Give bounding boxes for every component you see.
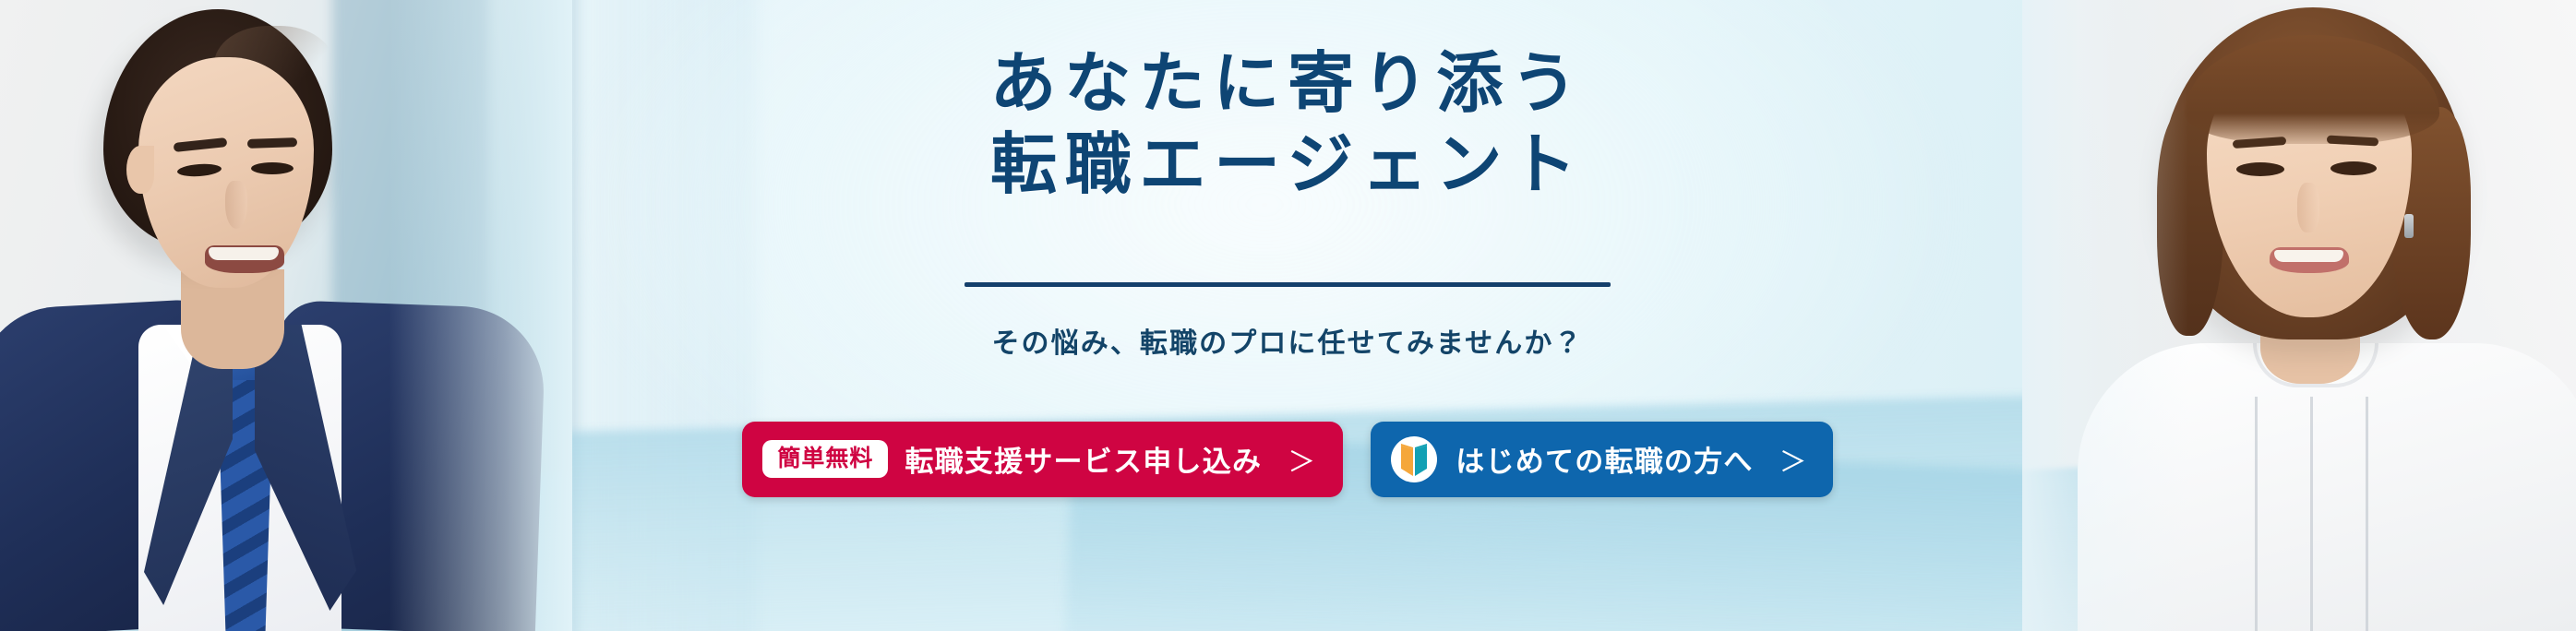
nose bbox=[225, 181, 247, 229]
chevron-right-icon: ＞ bbox=[1288, 439, 1315, 480]
earring bbox=[2404, 214, 2414, 238]
first-time-guide-button[interactable]: はじめての転職の方へ ＞ bbox=[1371, 422, 1832, 497]
headline-line-1: あなたに寄り添う bbox=[989, 44, 1585, 125]
headline-line-2: 転職エージェント bbox=[989, 125, 1585, 207]
recruitment-agent-banner: あなたに寄り添う 転職エージェント その悩み、転職のプロに任せてみませんか？ 簡… bbox=[0, 0, 2576, 631]
page-title: あなたに寄り添う 転職エージェント bbox=[989, 44, 1585, 207]
blouse-pleat bbox=[2366, 397, 2368, 631]
subtitle: その悩み、転職のプロに任せてみませんか？ bbox=[991, 320, 1583, 361]
blouse-pleat bbox=[2310, 397, 2313, 631]
banner-content: あなたに寄り添う 転職エージェント その悩み、転職のプロに任せてみませんか？ 簡… bbox=[646, 0, 1929, 631]
eyebrow-right bbox=[247, 137, 297, 149]
wakaba-beginner-mark-icon bbox=[1391, 436, 1437, 482]
cta-button-row: 簡単無料 転職支援サービス申し込み ＞ はじめての転職の方へ ＞ bbox=[742, 422, 1832, 497]
free-badge: 簡単無料 bbox=[762, 440, 888, 478]
chevron-right-icon: ＞ bbox=[1779, 439, 1807, 480]
title-divider bbox=[965, 282, 1611, 287]
eye-left bbox=[2236, 162, 2284, 176]
apply-service-label: 転職支援サービス申し込み bbox=[905, 438, 1262, 480]
blouse-pleat bbox=[2255, 397, 2258, 631]
nose bbox=[2297, 183, 2319, 232]
eye-right bbox=[251, 162, 294, 174]
agent-photo-female bbox=[2022, 0, 2576, 631]
smiling-mouth bbox=[205, 245, 284, 273]
apply-service-button[interactable]: 簡単無料 転職支援サービス申し込み ＞ bbox=[742, 422, 1343, 497]
ear bbox=[126, 146, 154, 194]
eye-right bbox=[2330, 161, 2377, 175]
smiling-mouth bbox=[2270, 247, 2349, 273]
first-time-guide-label: はじめての転職の方へ bbox=[1456, 438, 1753, 480]
agent-photo-male bbox=[0, 0, 572, 631]
